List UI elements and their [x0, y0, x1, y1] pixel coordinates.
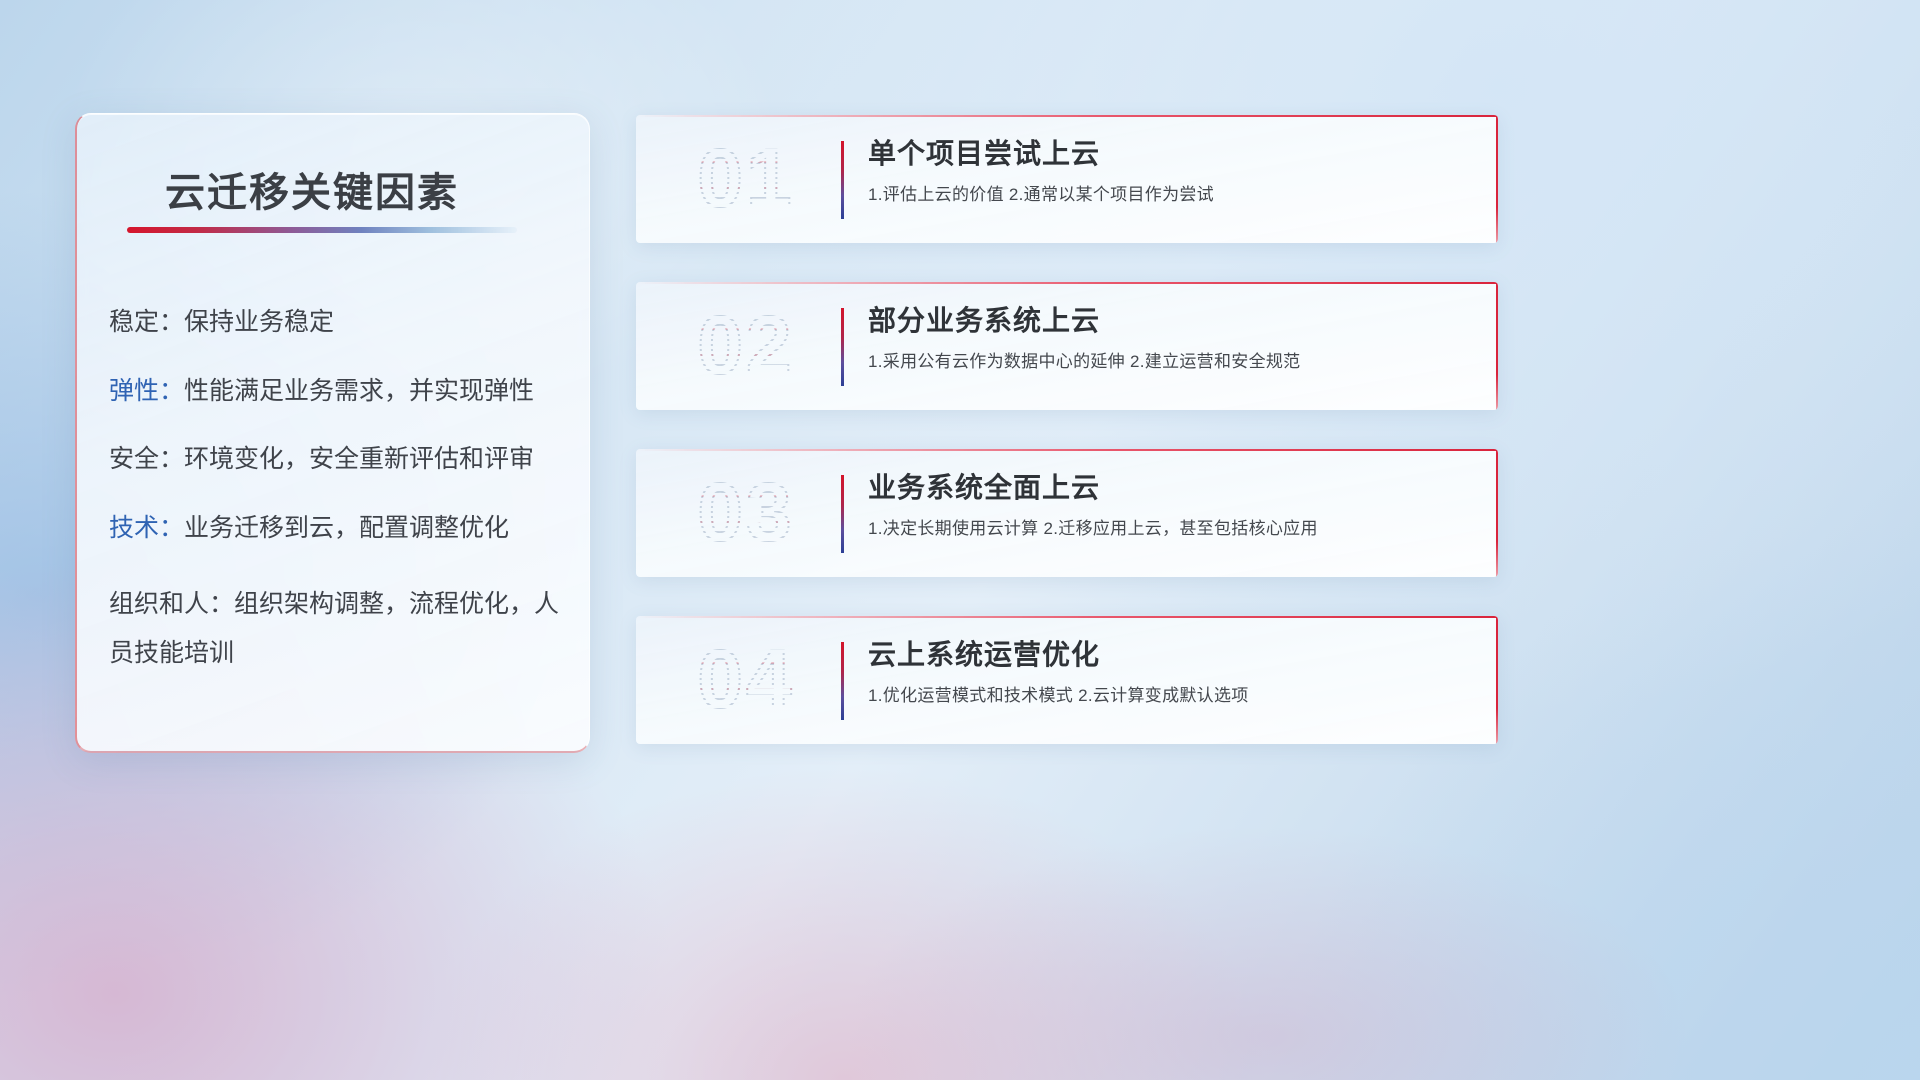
stage-body: 单个项目尝试上云 1.评估上云的价值 2.通常以某个项目作为尝试	[868, 136, 1474, 207]
factor-label: 安全：	[109, 445, 184, 473]
stage-number-ghost-tint: 04	[662, 630, 830, 730]
factor-label: 技术：	[109, 514, 184, 542]
stage-card[interactable]: 01 01 单个项目尝试上云 1.评估上云的价值 2.通常以某个项目作为尝试	[636, 115, 1498, 243]
stage-subtitle: 1.决定长期使用云计算 2.迁移应用上云，甚至包括核心应用	[868, 517, 1474, 541]
stage-subtitle: 1.评估上云的价值 2.通常以某个项目作为尝试	[868, 183, 1474, 207]
stage-body: 业务系统全面上云 1.决定长期使用云计算 2.迁移应用上云，甚至包括核心应用	[868, 470, 1474, 541]
stage-card[interactable]: 03 03 业务系统全面上云 1.决定长期使用云计算 2.迁移应用上云，甚至包括…	[636, 449, 1498, 577]
stage-subtitle: 1.采用公有云作为数据中心的延伸 2.建立运营和安全规范	[868, 350, 1474, 374]
migration-stage-cards: 01 01 单个项目尝试上云 1.评估上云的价值 2.通常以某个项目作为尝试 0…	[636, 115, 1498, 783]
stage-divider-bar	[841, 141, 844, 219]
list-item: 组织和人：组织架构调整，流程优化，人员技能培训	[109, 580, 565, 678]
stage-number-ghost-tint: 03	[662, 463, 830, 563]
page-title: 云迁移关键因素	[165, 160, 459, 218]
list-item: 稳定：保持业务稳定	[109, 306, 565, 339]
factor-label: 组织和人：	[109, 590, 234, 618]
list-item: 安全：环境变化，安全重新评估和评审	[109, 443, 565, 476]
stage-title: 部分业务系统上云	[868, 303, 1474, 340]
factor-label: 稳定：	[109, 308, 184, 336]
stage-body: 部分业务系统上云 1.采用公有云作为数据中心的延伸 2.建立运营和安全规范	[868, 303, 1474, 374]
stage-title: 单个项目尝试上云	[868, 136, 1474, 173]
list-item: 弹性：性能满足业务需求，并实现弹性	[109, 375, 565, 408]
stage-title: 业务系统全面上云	[868, 470, 1474, 507]
stage-number-ghost-tint: 02	[662, 296, 830, 396]
stage-card[interactable]: 02 02 部分业务系统上云 1.采用公有云作为数据中心的延伸 2.建立运营和安…	[636, 282, 1498, 410]
stage-divider-bar	[841, 642, 844, 720]
factor-text: 业务迁移到云，配置调整优化	[184, 514, 509, 542]
stage-number-ghost-tint: 01	[662, 129, 830, 229]
title-underline-rule	[127, 227, 517, 233]
stage-title: 云上系统运营优化	[868, 637, 1474, 674]
factor-text: 性能满足业务需求，并实现弹性	[184, 377, 534, 405]
factor-text: 保持业务稳定	[184, 308, 334, 336]
key-factors-panel: 云迁移关键因素 稳定：保持业务稳定 弹性：性能满足业务需求，并实现弹性 安全：环…	[75, 113, 590, 753]
stage-card[interactable]: 04 04 云上系统运营优化 1.优化运营模式和技术模式 2.云计算变成默认选项	[636, 616, 1498, 744]
stage-body: 云上系统运营优化 1.优化运营模式和技术模式 2.云计算变成默认选项	[868, 637, 1474, 708]
factor-label: 弹性：	[109, 377, 184, 405]
stage-divider-bar	[841, 475, 844, 553]
factor-text: 环境变化，安全重新评估和评审	[184, 445, 534, 473]
key-factors-list: 稳定：保持业务稳定 弹性：性能满足业务需求，并实现弹性 安全：环境变化，安全重新…	[109, 306, 565, 714]
stage-divider-bar	[841, 308, 844, 386]
stage-subtitle: 1.优化运营模式和技术模式 2.云计算变成默认选项	[868, 684, 1474, 708]
list-item: 技术：业务迁移到云，配置调整优化	[109, 512, 565, 545]
